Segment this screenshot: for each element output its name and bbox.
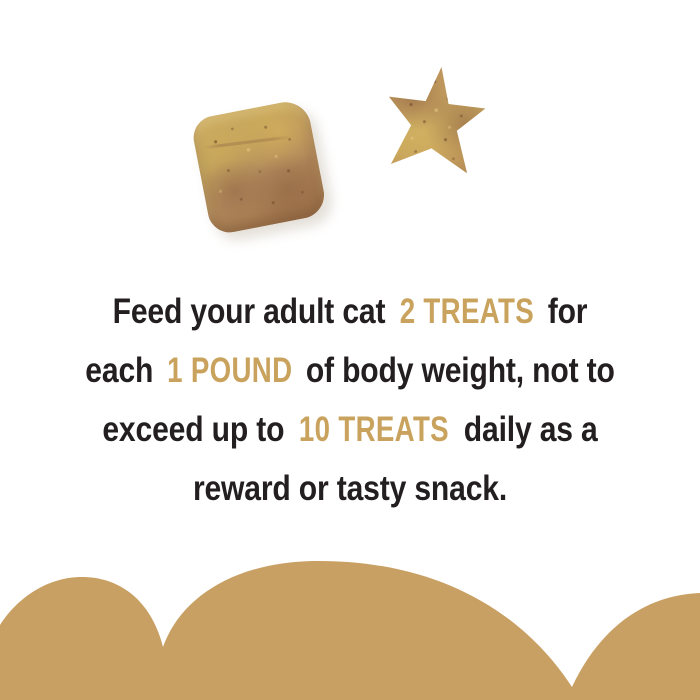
line-1-part-1: Feed your adult cat [113, 292, 394, 331]
feeding-guide-panel: Feed your adult cat 2 TREATS for each 1 … [0, 0, 700, 700]
highlight-10-treats: 10 TREATS [299, 400, 449, 459]
line-3-part-1: exceed up to [102, 410, 292, 449]
feeding-instructions-line-4: reward or tasty snack. [49, 459, 651, 518]
feeding-instructions-line-1: Feed your adult cat 2 TREATS for [49, 282, 651, 341]
line-2-part-1: each [85, 351, 161, 390]
feeding-instructions-text: Feed your adult cat 2 TREATS for each 1 … [0, 282, 700, 518]
highlight-2-treats: 2 TREATS [399, 282, 533, 341]
scalloped-wave-band [0, 555, 700, 700]
line-4-part-1: reward or tasty snack. [193, 469, 507, 508]
feeding-instructions-line-2: each 1 POUND of body weight, not to [49, 341, 651, 400]
star-kibble-treat-body [363, 57, 506, 200]
line-3-part-3: daily as a [456, 410, 598, 449]
highlight-1-pound: 1 POUND [167, 341, 292, 400]
line-2-part-3: of body weight, not to [298, 351, 615, 390]
star-kibble-treat-image [363, 57, 506, 200]
square-kibble-treat-image [190, 98, 328, 236]
wave-path [0, 561, 700, 700]
feeding-instructions-line-3: exceed up to 10 TREATS daily as a [49, 400, 651, 459]
treat-photos-group [0, 0, 700, 260]
square-kibble-treat-body [190, 98, 328, 236]
line-1-part-3: for [540, 292, 588, 331]
scalloped-wave-shape [0, 555, 700, 700]
